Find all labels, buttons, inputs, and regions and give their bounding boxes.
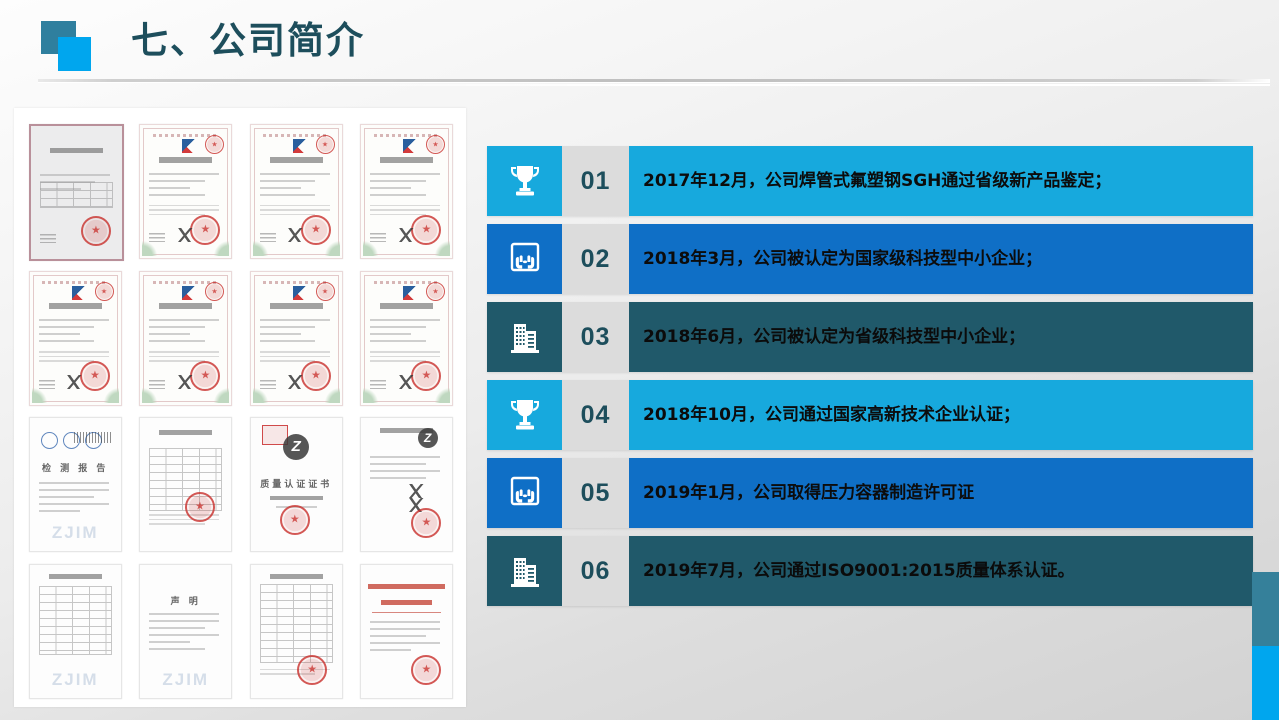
milestone-number: 02 [562,224,629,294]
certificate-thumb[interactable] [241,265,350,410]
certificate-thumb[interactable] [131,118,240,263]
certificate-thumb[interactable]: 声 明 ZJIM [131,558,240,703]
trophy-icon [487,146,562,216]
certificate-thumb[interactable] [352,118,461,263]
milestone-row-04[interactable]: 04 2018年10月，公司通过国家高新技术企业认证； [487,380,1253,450]
certificate-thumb[interactable]: Z [352,412,461,557]
milestone-row-06[interactable]: 06 2019年7月，公司通过ISO9001:2015质量体系认证。 [487,536,1253,606]
header-divider-highlight [205,84,1270,86]
certificates-grid: 检 测 报 告 ZJIM Z 质量认证证书 [14,114,466,707]
certificate-thumb[interactable] [20,118,129,263]
certificate-thumb[interactable] [20,265,129,410]
milestone-text: 2018年6月，公司被认定为省级科技型中小企业； [629,302,1253,372]
milestone-text: 2019年7月，公司通过ISO9001:2015质量体系认证。 [629,536,1253,606]
milestone-row-05[interactable]: 05 2019年1月，公司取得压力容器制造许可证 [487,458,1253,528]
milestone-number: 06 [562,536,629,606]
certificate-thumb[interactable]: 检 测 报 告 ZJIM [20,412,129,557]
certificate-thumb[interactable] [131,265,240,410]
certificate-thumb[interactable] [241,558,350,703]
milestone-number: 05 [562,458,629,528]
certificates-panel: 检 测 报 告 ZJIM Z 质量认证证书 [14,108,466,707]
header-divider [38,79,1270,82]
certificate-thumb[interactable] [241,118,350,263]
logo-square-light-icon [58,37,91,71]
milestones-list: 01 2017年12月，公司焊管式氟塑钢SGH通过省级新产品鉴定； 02 201… [487,146,1253,614]
milestone-text: 2018年10月，公司通过国家高新技术企业认证； [629,380,1253,450]
milestone-number: 04 [562,380,629,450]
milestone-row-02[interactable]: 02 2018年3月，公司被认定为国家级科技型中小企业； [487,224,1253,294]
trophy-icon [487,380,562,450]
page-title: 七、公司简介 [131,14,365,68]
milestone-number: 03 [562,302,629,372]
slide-header: 七、公司简介 [0,0,1279,92]
slide: 七、公司简介 [0,0,1279,720]
milestone-row-01[interactable]: 01 2017年12月，公司焊管式氟塑钢SGH通过省级新产品鉴定； [487,146,1253,216]
certificate-thumb[interactable] [352,558,461,703]
certificate-thumb[interactable]: ZJIM [20,558,129,703]
building-icon [487,536,562,606]
accent-bar-steel [1252,572,1279,646]
certificate-thumb[interactable] [352,265,461,410]
milestone-text: 2018年3月，公司被认定为国家级科技型中小企业； [629,224,1253,294]
building-icon [487,302,562,372]
certificate-thumb[interactable] [131,412,240,557]
certificate-thumb[interactable]: Z 质量认证证书 [241,412,350,557]
milestone-text: 2017年12月，公司焊管式氟塑钢SGH通过省级新产品鉴定； [629,146,1253,216]
milestone-row-03[interactable]: 03 2018年6月，公司被认定为省级科技型中小企业； [487,302,1253,372]
accent-bar-cyan [1252,646,1279,720]
milestone-number: 01 [562,146,629,216]
touchscreen-hand-icon [487,458,562,528]
milestone-text: 2019年1月，公司取得压力容器制造许可证 [629,458,1253,528]
touchscreen-hand-icon [487,224,562,294]
